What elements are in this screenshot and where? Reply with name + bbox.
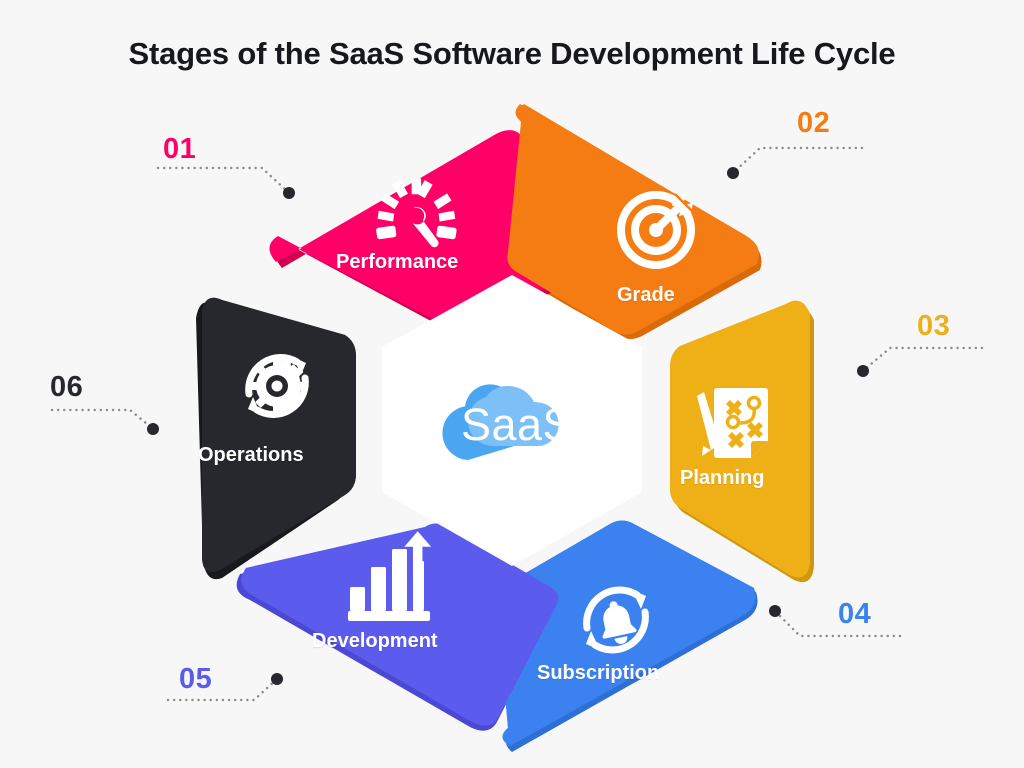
stage-label-development: Development (312, 630, 438, 653)
stage-label-planning: Planning (680, 467, 764, 490)
segment-operations-face[interactable] (202, 298, 356, 572)
leader-line-01 (158, 168, 295, 199)
leader-line-02 (727, 148, 862, 179)
stage-number-05: 05 (179, 663, 212, 696)
stage-number-02: 02 (797, 107, 830, 140)
stage-label-performance: Performance (336, 251, 458, 274)
hexagon-cycle-diagram: SaaS (0, 0, 1024, 768)
stage-number-04: 04 (838, 598, 871, 631)
stage-label-operations: Operations (198, 444, 304, 467)
leader-line-03 (857, 348, 982, 377)
gear-refresh-icon (248, 357, 306, 416)
stage-number-03: 03 (917, 310, 950, 343)
leader-line-04 (769, 605, 900, 636)
leader-line-06 (52, 410, 159, 435)
stage-number-06: 06 (50, 371, 83, 404)
saas-logo-text: SaaS (461, 399, 573, 450)
stage-number-01: 01 (163, 133, 196, 166)
stage-label-subscription: Subscription (537, 662, 659, 685)
stage-label-grade: Grade (617, 284, 675, 307)
